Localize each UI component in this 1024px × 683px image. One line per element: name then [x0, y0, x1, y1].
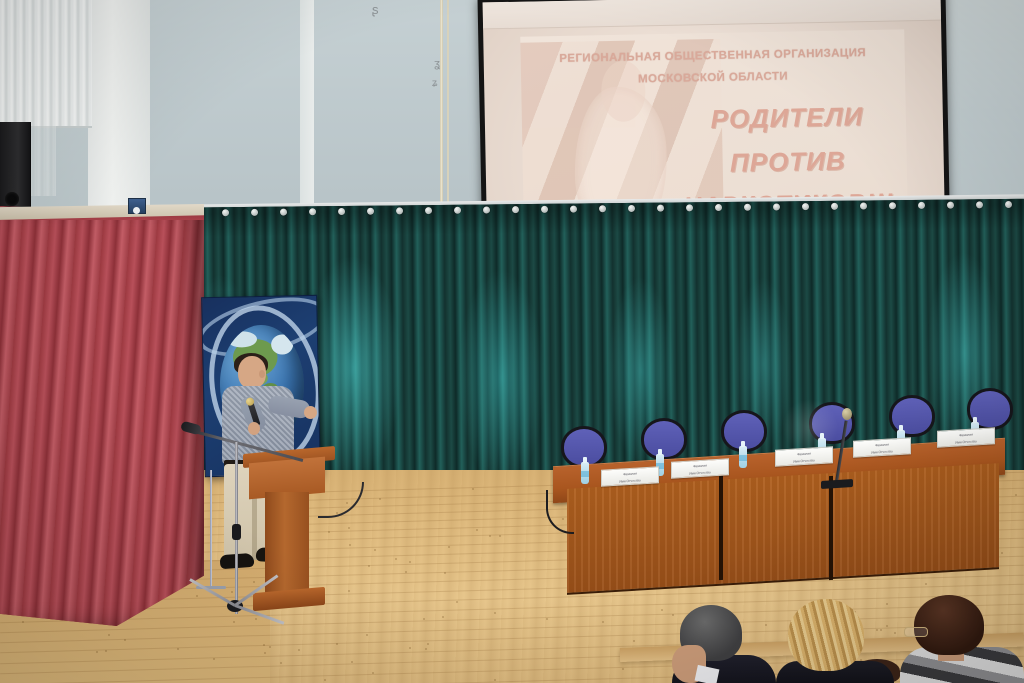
name-card: Фамилия Имя Отчество	[601, 466, 659, 486]
stage-light-device	[128, 198, 146, 214]
panel-table[interactable]: Фамилия Имя Отчество Фамилия Имя Отчеств…	[553, 440, 1013, 590]
audience-member-1	[672, 607, 776, 683]
microphone-gooseneck	[835, 421, 848, 483]
window-blinds-icon	[0, 0, 92, 128]
panel-chair[interactable]	[641, 418, 687, 462]
name-card-line-1: Фамилия	[855, 441, 909, 448]
table-seam	[829, 476, 833, 580]
auditorium-photo: ʂ ʓ ʑ РЕГИОНАЛЬНАЯ ОБЩЕСТВЕННАЯ ОРГАНИЗА…	[0, 0, 1024, 683]
boom-microphone-stand[interactable]	[187, 428, 307, 636]
wall-conduit-pipe	[440, 0, 443, 212]
table-seam	[719, 476, 723, 580]
name-card-line-1: Фамилия	[673, 462, 727, 469]
name-card: Фамилия Имя Отчество	[671, 458, 729, 478]
stand-height-clutch[interactable]	[232, 524, 241, 540]
microphone-boom-arm	[187, 428, 304, 462]
wall-loudspeaker	[0, 122, 31, 214]
table-microphone[interactable]	[821, 410, 853, 488]
name-card: Фамилия Имя Отчество	[853, 437, 911, 457]
microphone-base	[821, 479, 853, 489]
name-card-line-1: Фамилия	[603, 470, 657, 477]
screen-roller-bar	[483, 0, 941, 29]
wall-pillar-secondary	[300, 0, 314, 218]
stand-tripod-legs	[189, 604, 285, 632]
audience-member-2	[776, 597, 894, 683]
side-curtain-red	[0, 206, 204, 626]
presenter-right-hand	[304, 406, 317, 419]
wall-mark: ʂ	[372, 2, 379, 17]
wall-mark-3: ʑ	[432, 78, 437, 89]
presenter-ear	[259, 370, 265, 378]
wall-panel	[150, 0, 490, 216]
microphone-capsule-icon	[842, 408, 852, 420]
panel-chair[interactable]	[889, 395, 935, 439]
eyeglasses-icon	[904, 627, 928, 637]
name-card-line-1: Фамилия	[939, 431, 993, 438]
slide-title-line-1: РОДИТЕЛИ	[679, 100, 895, 135]
water-bottle[interactable]	[739, 446, 747, 468]
wall-conduit-pipe-2	[447, 0, 449, 210]
audience-member-3	[900, 591, 1024, 683]
slide-title-line-2: ПРОТИВ	[680, 145, 896, 180]
name-card: Фамилия Имя Отчество	[937, 427, 995, 447]
wall-mark-2: ʓ	[434, 58, 440, 70]
water-bottle[interactable]	[581, 462, 589, 484]
